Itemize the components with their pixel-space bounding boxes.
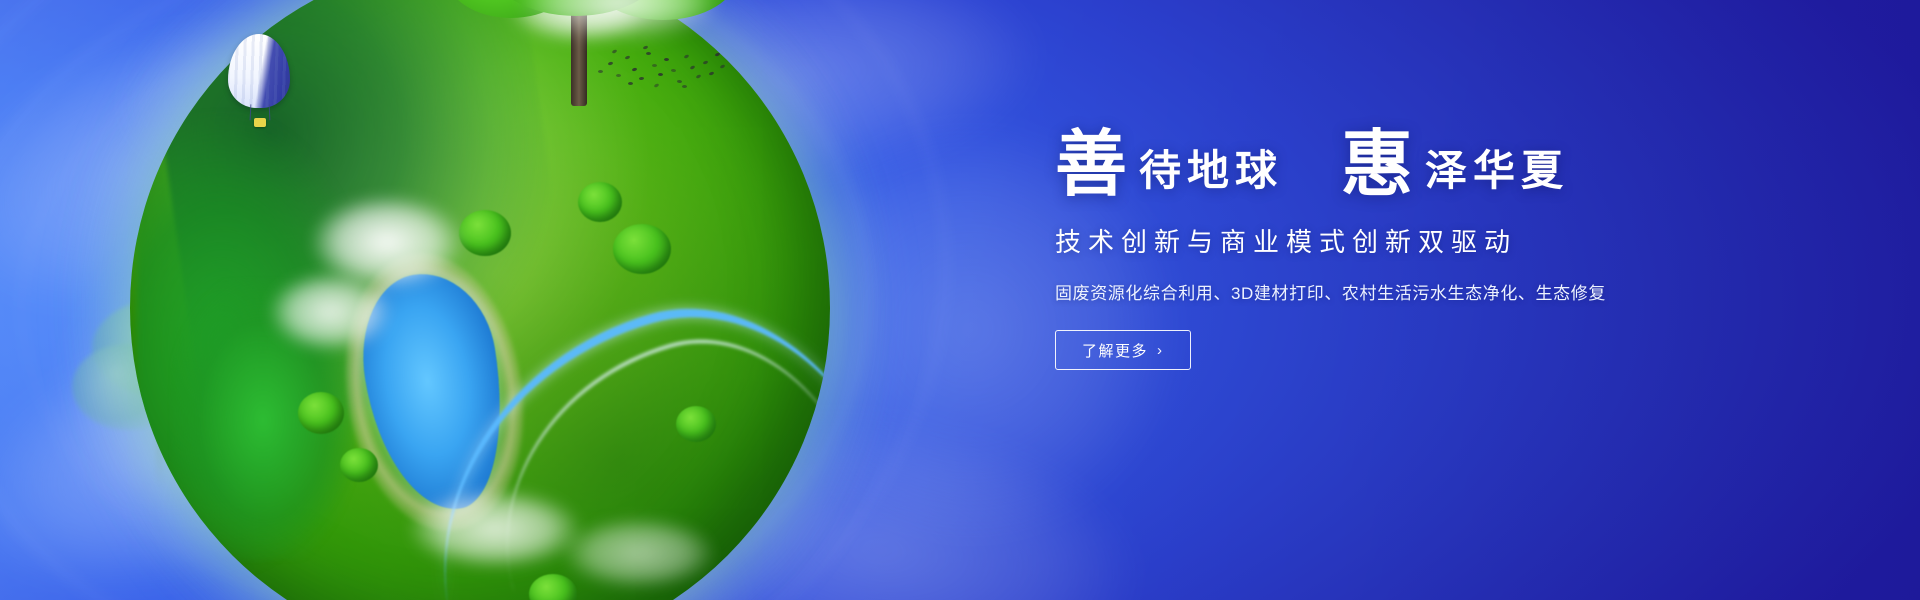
tree-canopy [340, 448, 378, 482]
bird-flock-icon [594, 44, 724, 92]
tree-canopy [459, 210, 511, 256]
chevron-right-icon: › [1157, 343, 1164, 358]
bird-icon [652, 64, 657, 67]
headline-char-1: 善 [1055, 128, 1129, 200]
planet-cloud [270, 273, 390, 351]
headline-rest-2: 泽华夏 [1425, 150, 1569, 192]
bird-icon [677, 80, 682, 84]
bird-icon [703, 60, 709, 65]
tree-canopy [298, 392, 344, 434]
bird-icon [658, 73, 663, 76]
planet-cloud [410, 490, 580, 568]
tree-canopy [578, 182, 622, 222]
learn-more-label: 了解更多 [1082, 340, 1148, 361]
page-title: 善 待地球 惠 泽华夏 [1055, 128, 1815, 200]
bird-icon [616, 74, 621, 77]
bird-icon [628, 82, 633, 85]
bird-icon [612, 49, 618, 54]
bird-icon [709, 71, 715, 76]
bird-icon [608, 61, 614, 65]
bird-icon [632, 67, 638, 71]
bird-icon [654, 83, 660, 88]
bird-icon [684, 54, 690, 59]
bird-icon [715, 52, 721, 57]
banner-content: 善 待地球 惠 泽华夏 技术创新与商业模式创新双驱动 固废资源化综合利用、3D建… [1055, 128, 1815, 370]
learn-more-button[interactable]: 了解更多 › [1055, 330, 1191, 370]
planet-cloud [564, 518, 714, 588]
bird-icon [696, 74, 702, 79]
hot-air-balloon-icon [228, 34, 290, 130]
balloon-envelope [228, 34, 290, 108]
banner-subtitle: 技术创新与商业模式创新双驱动 [1055, 222, 1815, 259]
headline-char-2: 惠 [1341, 128, 1415, 200]
bird-icon [625, 55, 631, 60]
balloon-basket [254, 118, 266, 127]
tree-canopy [613, 224, 671, 274]
bird-icon [643, 45, 649, 50]
bird-icon [671, 69, 676, 73]
bird-icon [639, 77, 644, 81]
bird-icon [664, 58, 669, 61]
bird-icon [690, 65, 696, 70]
banner-description: 固废资源化综合利用、3D建材打印、农村生活污水生态净化、生态修复 [1055, 279, 1815, 304]
bird-icon [646, 52, 651, 55]
tree-canopy [676, 406, 716, 442]
hero-banner: 善 待地球 惠 泽华夏 技术创新与商业模式创新双驱动 固废资源化综合利用、3D建… [0, 0, 1920, 600]
mist [524, 0, 714, 38]
bird-icon [682, 85, 687, 88]
bird-icon [598, 70, 603, 73]
headline-rest-1: 待地球 [1139, 150, 1283, 192]
